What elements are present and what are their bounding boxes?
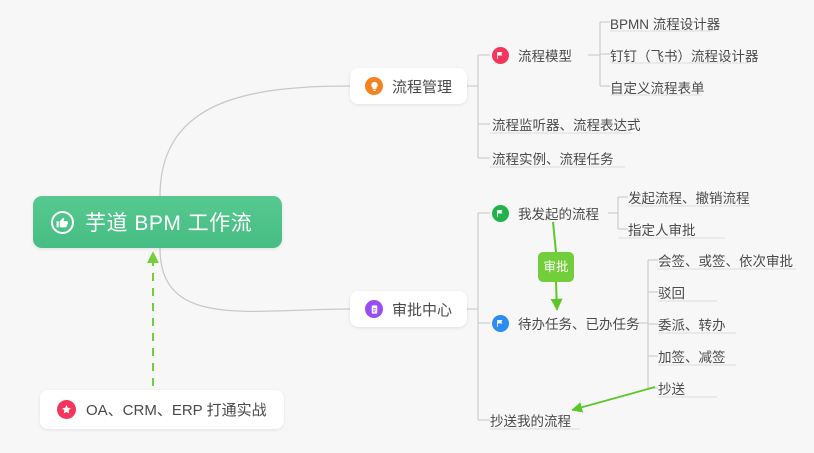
leaf-label: 流程实例、流程任务: [492, 152, 614, 167]
flag-icon: [492, 205, 509, 222]
branch-node-process-management[interactable]: 流程管理: [350, 68, 467, 104]
leaf-label: 待办任务、已办任务: [518, 313, 640, 333]
leaf-todo-done-task[interactable]: 待办任务、已办任务: [492, 313, 640, 338]
leaf-label: 抄送: [658, 382, 685, 397]
leaf-process-model[interactable]: 流程模型: [492, 45, 572, 70]
leaf-label: 流程监听器、流程表达式: [492, 118, 641, 133]
leaf-dingtalk-designer[interactable]: 钉钉（飞书）流程设计器: [610, 45, 759, 70]
star-icon: [57, 400, 76, 419]
leaf-label: 加签、减签: [658, 350, 726, 365]
root-node[interactable]: 芋道 BPM 工作流: [33, 196, 282, 248]
branch-label-process-management: 流程管理: [392, 76, 452, 97]
leaf-label: 会签、或签、依次审批: [658, 254, 793, 269]
clipboard-icon: [365, 300, 383, 318]
leaf-listener-expression[interactable]: 流程监听器、流程表达式: [492, 114, 641, 139]
leaf-add-remove-sign[interactable]: 加签、减签: [658, 346, 726, 371]
flag-icon: [492, 315, 509, 332]
leaf-custom-form[interactable]: 自定义流程表单: [610, 77, 705, 102]
leaf-reject[interactable]: 驳回: [658, 282, 685, 307]
callout-node-integration[interactable]: OA、CRM、ERP 打通实战: [40, 390, 284, 429]
leaf-assignee-approval[interactable]: 指定人审批: [628, 219, 696, 244]
mindmap-canvas: 芋道 BPM 工作流 流程管理 流程模型 BPMN 流程设计器 钉钉（飞书）流程…: [0, 0, 814, 453]
leaf-label: 我发起的流程: [518, 203, 599, 223]
leaf-start-cancel-process[interactable]: 发起流程、撤销流程: [628, 187, 750, 212]
callout-label: OA、CRM、ERP 打通实战: [86, 399, 267, 420]
branch-node-approval-center[interactable]: 审批中心: [350, 291, 467, 327]
root-label: 芋道 BPM 工作流: [85, 207, 252, 237]
leaf-label: 委派、转办: [658, 318, 726, 333]
leaf-bpmn-designer[interactable]: BPMN 流程设计器: [610, 13, 720, 38]
leaf-label: 驳回: [658, 286, 685, 301]
thumbs-up-icon: [51, 211, 74, 234]
leaf-label: 钉钉（飞书）流程设计器: [610, 49, 759, 64]
leaf-my-initiated-process[interactable]: 我发起的流程: [492, 203, 599, 228]
leaf-countersign[interactable]: 会签、或签、依次审批: [658, 250, 793, 275]
branch-label-approval-center: 审批中心: [392, 299, 452, 320]
leaf-label: 发起流程、撤销流程: [628, 191, 750, 206]
leaf-cc-to-me-process[interactable]: 抄送我的流程: [490, 410, 571, 435]
leaf-delegate-transfer[interactable]: 委派、转办: [658, 314, 726, 339]
leaf-label: 自定义流程表单: [610, 81, 705, 96]
leaf-cc[interactable]: 抄送: [658, 378, 685, 403]
lightbulb-icon: [365, 77, 383, 95]
leaf-label: BPMN 流程设计器: [610, 17, 720, 32]
annotation-badge-label: 审批: [543, 261, 568, 274]
leaf-label: 流程模型: [518, 45, 572, 65]
flag-icon: [492, 47, 509, 64]
leaf-label: 抄送我的流程: [490, 414, 571, 429]
leaf-label: 指定人审批: [628, 223, 696, 238]
leaf-instance-task[interactable]: 流程实例、流程任务: [492, 148, 614, 173]
annotation-badge-approval: 审批: [538, 252, 574, 282]
